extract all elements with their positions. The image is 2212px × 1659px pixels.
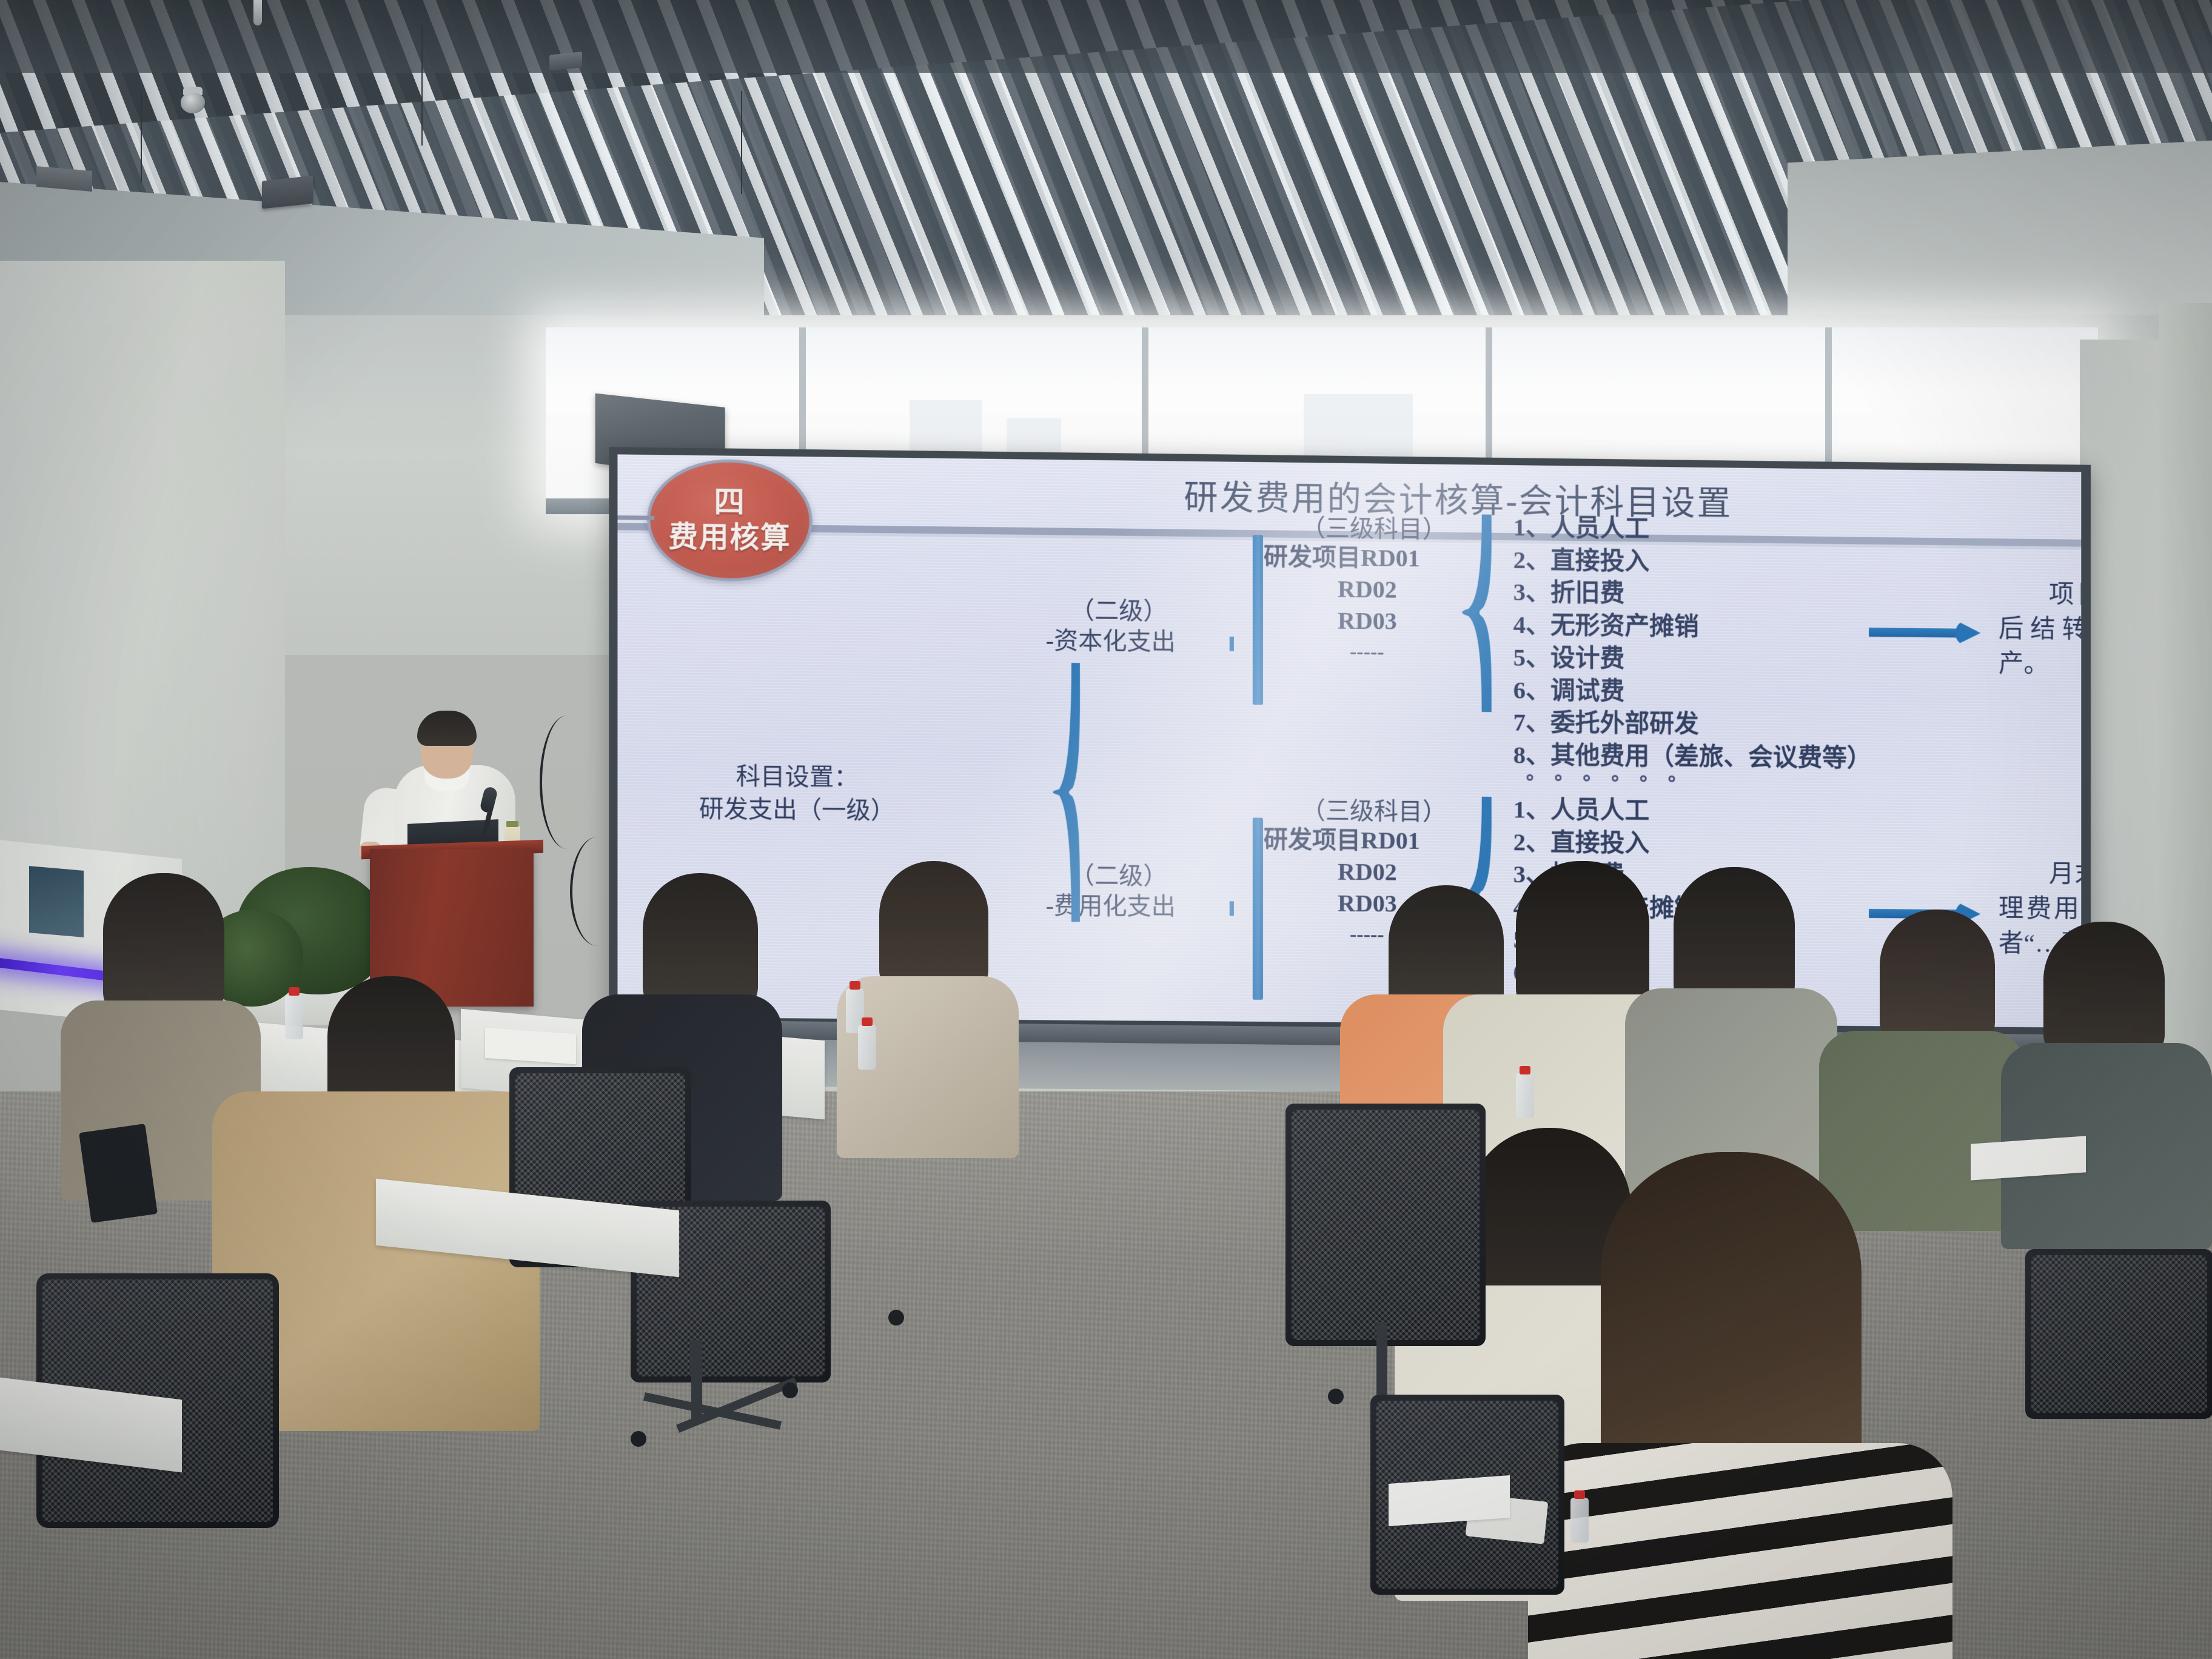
presenter-hair — [417, 711, 477, 746]
branch1-item-list: 1、人员人工 2、直接投入 3、折旧费 4、无形资产摊销 5、设计费 6、调试费… — [1513, 511, 1872, 775]
presentation-room-photo: 研发费用的会计核算-会计科目设置 四 费用核算 科目设置： 研发支出（一级） （… — [0, 0, 2212, 1659]
ceiling-pendant — [253, 0, 262, 25]
branch1-item-6: 6、调试费 — [1513, 674, 1872, 710]
section-badge-number: 四 — [714, 485, 746, 520]
branch1-item-1: 1、人员人工 — [1513, 511, 1872, 548]
branch1-item-7: 7、委托外部研发 — [1513, 706, 1872, 742]
branch1-item-4: 4、无形资产摊销 — [1513, 609, 1872, 645]
ceiling-speaker — [262, 176, 313, 209]
branch2-level3-line-1: 研发项目RD01 — [1264, 824, 1420, 857]
branch2-level3-line-2: RD02 — [1338, 856, 1397, 889]
branch2-item-1: 1、人员人工 — [1513, 793, 1872, 829]
branch2-level3-line-4: ----- — [1350, 922, 1384, 949]
presentation-slide: 研发费用的会计核算-会计科目设置 四 费用核算 科目设置： 研发支出（一级） （… — [617, 454, 2081, 1027]
branch2-tick — [1230, 901, 1234, 916]
counter-poster — [29, 866, 84, 937]
branch1-level3-line-2: RD02 — [1338, 574, 1397, 606]
chair-wheel — [782, 1382, 798, 1398]
water-bottle — [858, 1025, 876, 1070]
main-brace-icon — [1046, 662, 1084, 923]
water-bottle — [1570, 1498, 1589, 1543]
water-bottle — [1516, 1073, 1534, 1118]
audience-head — [643, 873, 758, 1013]
root-label-line2: 研发支出（一级） — [672, 793, 923, 828]
section-badge: 四 费用核算 — [647, 458, 813, 582]
av-cable — [570, 837, 625, 946]
branch2-item-2: 2、直接投入 — [1513, 826, 1872, 862]
audience-head — [879, 861, 988, 994]
branch1-item-2: 2、直接投入 — [1513, 544, 1872, 580]
chair-wheel — [888, 1310, 904, 1326]
branch1-level2-name: -资本化支出 — [1046, 625, 1176, 659]
audience-head — [1880, 910, 1995, 1049]
audience-torso-striped — [1528, 1443, 1952, 1659]
ceiling-hanger-wire — [421, 24, 423, 146]
chair-column — [1376, 1322, 1387, 1395]
root-label-line1: 科目设置： — [684, 760, 911, 795]
branch1-level3-line-1: 研发项目RD01 — [1264, 541, 1420, 575]
branch1-conclusion: 项目研发完成后结转至无形资产。 — [1999, 577, 2081, 685]
desk-paper — [1389, 1475, 1510, 1526]
audience-torso — [1819, 1031, 2025, 1231]
ceiling-hanger-wire — [141, 91, 142, 182]
led-display-screen[interactable]: 研发费用的会计核算-会计科目设置 四 费用核算 科目设置： 研发支出（一级） （… — [617, 454, 2081, 1027]
office-chair — [2025, 1249, 2212, 1419]
ceiling-soffit-right — [1788, 141, 2212, 345]
branch1-level3-bracket — [1253, 535, 1263, 705]
audience-head — [103, 873, 224, 1019]
badge-connector-tick — [617, 515, 654, 520]
branch2-level3-bracket — [1253, 817, 1263, 999]
branch1-items-brace-icon — [1454, 513, 1493, 713]
security-camera-icon — [179, 87, 206, 115]
branch2-level2-paren: （二级） — [1070, 860, 1168, 893]
audience-head — [2043, 922, 2165, 1061]
water-bottle — [285, 994, 303, 1039]
tablet-device[interactable] — [79, 1124, 158, 1223]
branch1-level3-line-4: ----- — [1350, 639, 1384, 666]
branch1-level3-line-3: RD03 — [1338, 605, 1397, 638]
av-cable — [540, 716, 594, 849]
chair-wheel — [631, 1431, 646, 1447]
section-badge-label: 费用核算 — [668, 520, 791, 556]
branch1-item-5: 5、设计费 — [1513, 642, 1872, 678]
branch1-ellipsis-dots — [1527, 774, 1675, 782]
branch1-arrow-icon — [1869, 624, 1980, 641]
ceiling-hanger-wire — [741, 91, 742, 194]
chair-wheel — [1328, 1389, 1344, 1404]
desk-paper — [485, 1028, 576, 1064]
branch1-item-3: 3、折旧费 — [1513, 576, 1872, 612]
office-chair — [1285, 1104, 1486, 1346]
branch1-tick — [1230, 637, 1234, 651]
ceiling-dark-band — [0, 0, 2212, 73]
led-display-frame: 研发费用的会计核算-会计科目设置 四 费用核算 科目设置： 研发支出（一级） （… — [609, 447, 2091, 1037]
branch1-item-8: 8、其他费用（差旅、会议费等） — [1513, 739, 1872, 774]
branch1-level2-paren: （二级） — [1070, 595, 1168, 628]
branch1-level3-paren: （三级科目） — [1301, 512, 1447, 546]
branch2-level3-paren: （三级科目） — [1301, 795, 1447, 828]
branch2-level3-line-3: RD03 — [1338, 888, 1397, 920]
